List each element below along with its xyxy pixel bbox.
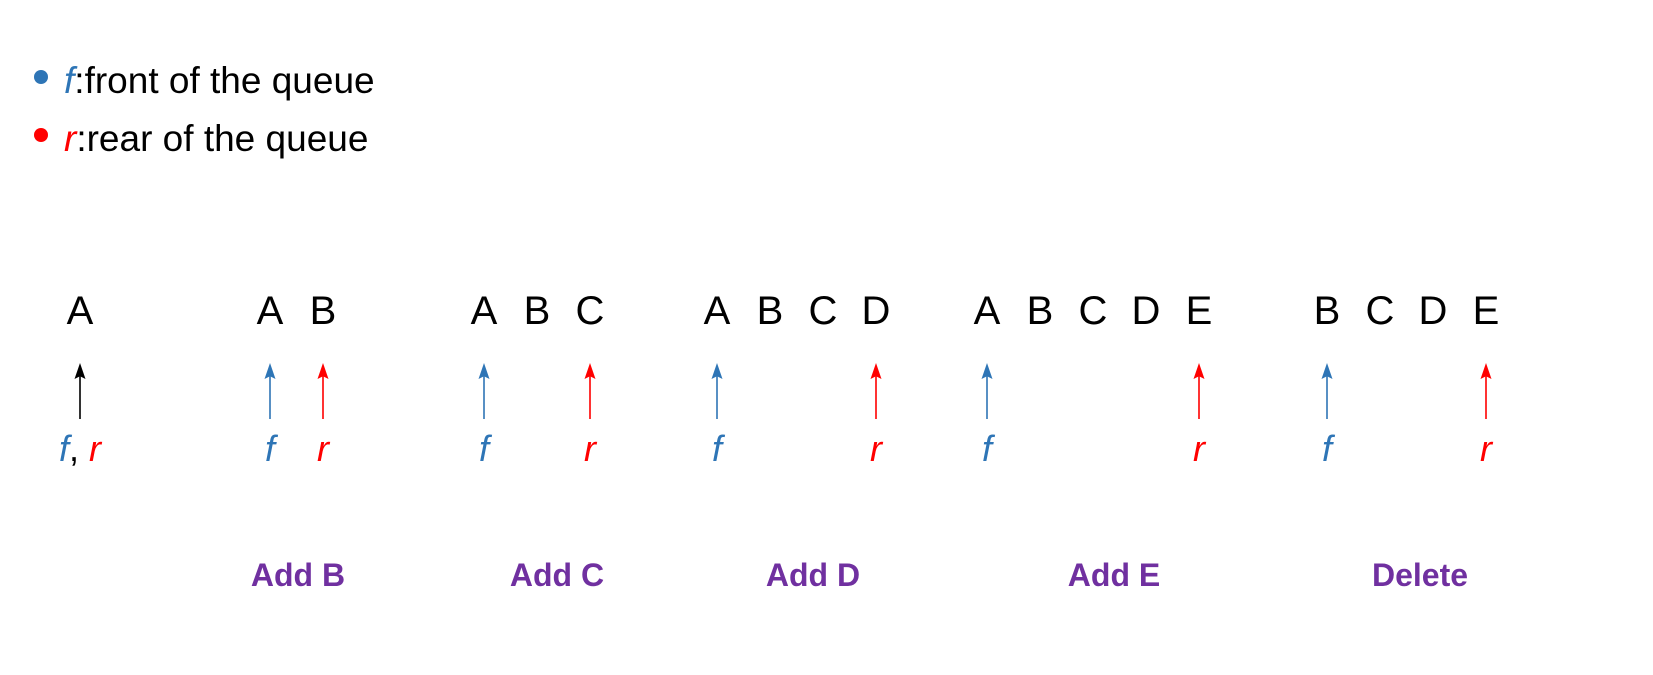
queue-element: A [248,285,292,337]
queue-element: E [1177,285,1221,337]
pointer-arrow-icon [316,363,330,419]
queue-letters-row: ABCD [695,285,898,337]
queue-element: B [1018,285,1062,337]
queue-element: D [1411,285,1455,337]
rear-pointer: r [854,363,898,471]
queue-element: C [1071,285,1115,337]
queue-element: A [58,285,102,337]
pointer-arrow-icon [710,363,724,419]
rear-pointer: r [568,363,612,471]
rear-pointer: r [1177,363,1221,471]
front-rear-pointer-label: f, r [58,427,102,471]
queue-element: B [1305,285,1349,337]
queue-element: C [1358,285,1402,337]
rear-pointer-label: r [1177,427,1221,471]
front-pointer-label: f [965,427,1009,471]
queue-element: E [1464,285,1508,337]
front-pointer-label: f [248,427,292,471]
operation-label: Add B [188,552,408,598]
operation-label: Delete [1310,552,1530,598]
queue-letters-row: AB [248,285,345,337]
front-pointer: f [965,363,1009,471]
pointer-arrow-icon [1320,363,1334,419]
pointer-arrow-icon [1192,363,1206,419]
pointer-arrow-icon [1479,363,1493,419]
queue-element: A [965,285,1009,337]
rear-pointer-label: r [854,427,898,471]
rear-pointer: r [1464,363,1508,471]
queue-letters-row: A [58,285,102,337]
pointer-arrow-icon [583,363,597,419]
front-pointer-label: f [1305,427,1349,471]
pointer-arrow-icon [869,363,883,419]
rear-pointer-label: r [301,427,345,471]
operation-label: Add D [703,552,923,598]
operation-caption-row: Add BAdd CAdd DAdd EDelete [0,552,1653,602]
operation-label: Add C [447,552,667,598]
queue-element: B [515,285,559,337]
queue-element: B [301,285,345,337]
rear-pointer-label: r [1464,427,1508,471]
queue-letters-row: BCDE [1305,285,1508,337]
pointer-arrow-icon [477,363,491,419]
operation-label: Add E [1004,552,1224,598]
front-pointer: f [462,363,506,471]
queue-letters-row: ABC [462,285,612,337]
queue-letters-row: ABCDE [965,285,1221,337]
front-pointer-label: f [462,427,506,471]
queue-element: D [1124,285,1168,337]
queue-element: C [568,285,612,337]
front-pointer: f [248,363,292,471]
queue-element: D [854,285,898,337]
front-pointer: f [695,363,739,471]
queue-element: C [801,285,845,337]
pointer-arrow-icon [263,363,277,419]
pointer-arrow-icon [73,363,87,419]
front-pointer-label: f [695,427,739,471]
queue-element: B [748,285,792,337]
front-pointer: f [1305,363,1349,471]
queue-element: A [462,285,506,337]
rear-pointer-label: r [568,427,612,471]
rear-pointer: r [301,363,345,471]
queue-element: A [695,285,739,337]
pointer-arrow-icon [980,363,994,419]
front-rear-pointer: f, r [58,363,102,471]
